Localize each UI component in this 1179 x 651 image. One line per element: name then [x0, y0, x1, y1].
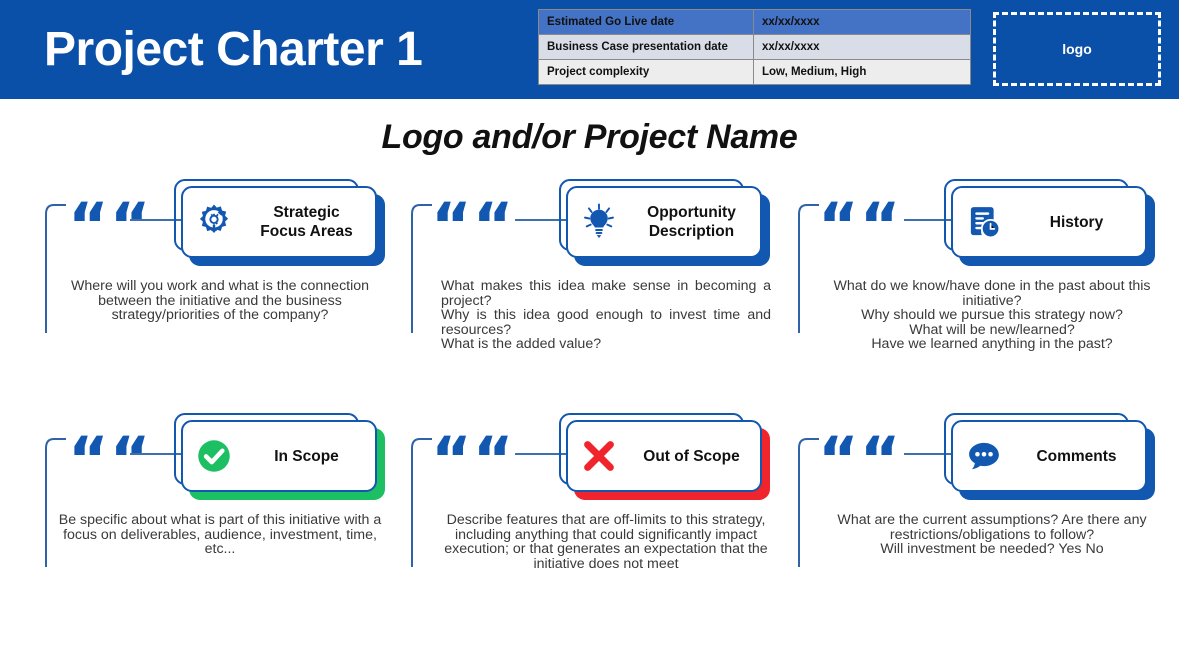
table-row: Project complexity Low, Medium, High — [539, 60, 971, 85]
table-cell-label: Project complexity — [539, 60, 754, 85]
quote-mark-icon: ““ — [818, 195, 902, 257]
table-row: Estimated Go Live date xx/xx/xxxx — [539, 10, 971, 35]
card-body-line: What makes this idea make sense in becom… — [441, 279, 771, 308]
card-body-text: What are the current assumptions? Are th… — [816, 513, 1168, 557]
quote-mark-icon: ““ — [431, 429, 515, 491]
card-face[interactable]: StrategicFocus Areas — [181, 186, 377, 258]
page-title: Logo and/or Project Name — [0, 118, 1179, 157]
card-body-text: Where will you work and what is the conn… — [55, 279, 385, 323]
card-title: OpportunityDescription — [623, 203, 760, 241]
table-cell-label: Business Case presentation date — [539, 35, 754, 60]
card-stack[interactable]: OpportunityDescription — [513, 179, 748, 271]
card-title: History — [1008, 213, 1145, 232]
card-face[interactable]: OpportunityDescription — [566, 186, 762, 258]
table-cell-value[interactable]: xx/xx/xxxx — [754, 35, 971, 60]
quote-mark-icon: ““ — [818, 429, 902, 491]
card-face[interactable]: Comments — [951, 420, 1147, 492]
card-stack[interactable]: In Scope — [128, 413, 363, 505]
bracket-rail — [411, 204, 433, 334]
card-title: Out of Scope — [623, 447, 760, 466]
card-body-text: What do we know/have done in the past ab… — [816, 279, 1168, 352]
card-body-line: Have we learned anything in the past? — [816, 337, 1168, 352]
card-face[interactable]: In Scope — [181, 420, 377, 492]
bracket-rail — [411, 438, 433, 568]
lightbulb-icon — [575, 198, 623, 246]
card-body-line: What is the added value? — [441, 337, 771, 352]
card-face[interactable]: History — [951, 186, 1147, 258]
logo-placeholder-label: logo — [1062, 41, 1092, 57]
card-title: StrategicFocus Areas — [238, 203, 375, 241]
cross-icon — [575, 432, 623, 480]
card-body-line: Where will you work and what is the conn… — [55, 279, 385, 323]
card-body-line: What do we know/have done in the past ab… — [816, 279, 1168, 308]
card-stack[interactable]: Out of Scope — [513, 413, 748, 505]
card-stack[interactable]: StrategicFocus Areas — [128, 179, 363, 271]
project-meta-table: Estimated Go Live date xx/xx/xxxx Busine… — [538, 9, 971, 85]
card-title: In Scope — [238, 447, 375, 466]
gear-target-icon — [190, 198, 238, 246]
card-body-text: What makes this idea make sense in becom… — [441, 279, 771, 352]
table-cell-label: Estimated Go Live date — [539, 10, 754, 35]
card-body-line: Why is this idea good enough to invest t… — [441, 308, 771, 337]
card-body-line: Be specific about what is part of this i… — [55, 513, 385, 557]
table-row: Business Case presentation date xx/xx/xx… — [539, 35, 971, 60]
card-body-line: What are the current assumptions? Are th… — [816, 513, 1168, 542]
card-title: Comments — [1008, 447, 1145, 466]
quote-mark-icon: ““ — [431, 195, 515, 257]
card-body-line: Will investment be needed? Yes No — [816, 542, 1168, 557]
card-body-text: Be specific about what is part of this i… — [55, 513, 385, 557]
speech-bubble-icon — [960, 432, 1008, 480]
logo-placeholder-box[interactable]: logo — [993, 12, 1161, 86]
card-body-text: Describe features that are off-limits to… — [441, 513, 771, 571]
card-stack[interactable]: History — [898, 179, 1133, 271]
table-cell-value[interactable]: Low, Medium, High — [754, 60, 971, 85]
card-body-line: Describe features that are off-limits to… — [441, 513, 771, 571]
document-clock-icon — [960, 198, 1008, 246]
card-face[interactable]: Out of Scope — [566, 420, 762, 492]
header-bar: Project Charter 1 Estimated Go Live date… — [0, 0, 1179, 99]
card-stack[interactable]: Comments — [898, 413, 1133, 505]
page-header-title: Project Charter 1 — [44, 20, 422, 80]
card-body-line: What will be new/learned? — [816, 323, 1168, 338]
table-cell-value[interactable]: xx/xx/xxxx — [754, 10, 971, 35]
check-circle-icon — [190, 432, 238, 480]
card-body-line: Why should we pursue this strategy now? — [816, 308, 1168, 323]
